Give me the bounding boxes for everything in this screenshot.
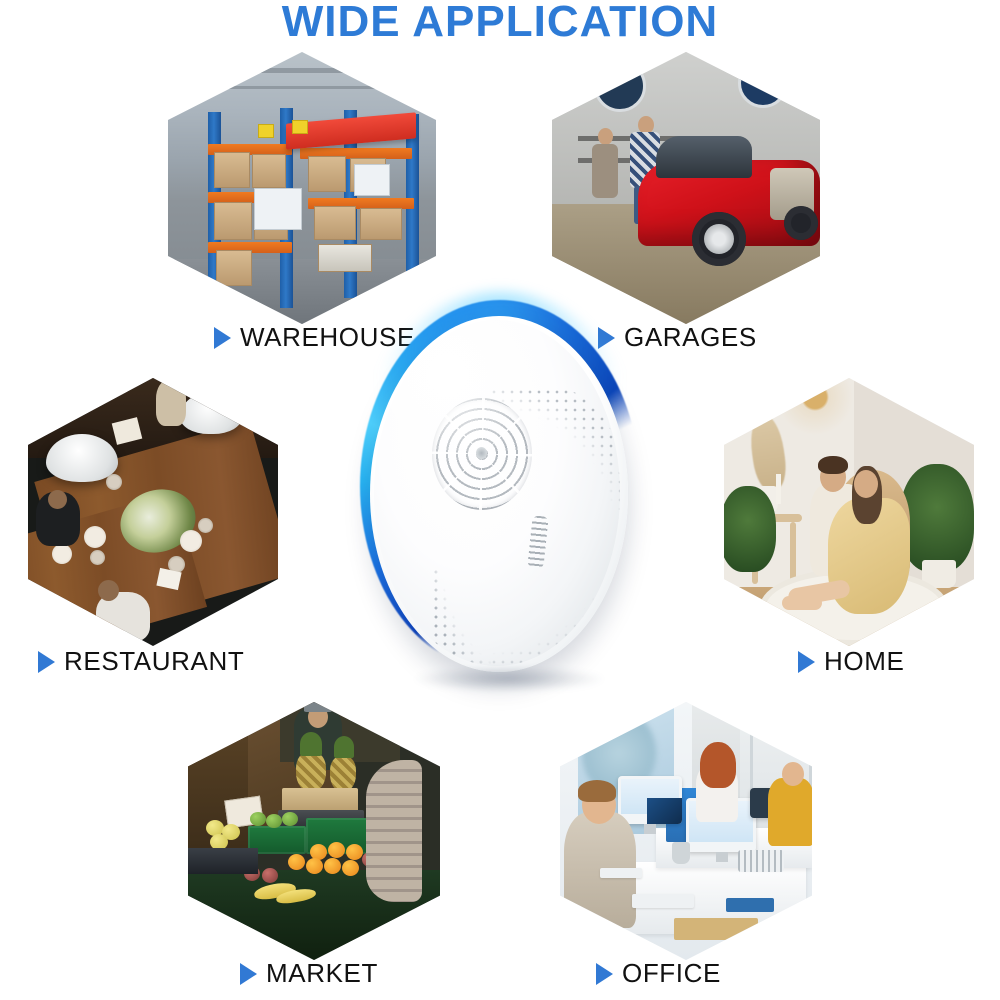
application-photo-warehouse: [168, 52, 436, 324]
office-scene: [560, 702, 812, 960]
application-photo-market: [188, 702, 440, 960]
application-label-restaurant: RESTAURANT: [38, 646, 244, 677]
page-title: WIDE APPLICATION: [0, 0, 1000, 48]
application-photo-garages: [552, 52, 820, 324]
application-label-text: RESTAURANT: [64, 646, 244, 677]
infographic-canvas: WIDE APPLICATION: [0, 0, 1000, 1000]
triangle-right-icon: [596, 963, 613, 985]
application-label-home: HOME: [798, 646, 904, 677]
triangle-right-icon: [214, 327, 231, 349]
product-ultrasonic-pest-repeller: [352, 300, 648, 690]
application-label-text: OFFICE: [622, 958, 721, 989]
triangle-right-icon: [38, 651, 55, 673]
home-scene: [724, 378, 974, 646]
application-label-office: OFFICE: [596, 958, 721, 989]
application-label-market: MARKET: [240, 958, 378, 989]
garage-scene: [552, 52, 820, 324]
triangle-right-icon: [240, 963, 257, 985]
device-perforations-bottom: [434, 570, 614, 666]
application-label-text: HOME: [824, 646, 904, 677]
triangle-right-icon: [798, 651, 815, 673]
application-photo-office: [560, 702, 812, 960]
application-label-text: MARKET: [266, 958, 378, 989]
application-photo-home: [724, 378, 974, 646]
application-photo-restaurant: [28, 378, 278, 646]
device-drop-shadow: [414, 666, 604, 692]
warehouse-scene: [168, 52, 436, 324]
restaurant-scene: [28, 378, 278, 646]
market-scene: [188, 702, 440, 960]
device-shell: [374, 320, 620, 666]
